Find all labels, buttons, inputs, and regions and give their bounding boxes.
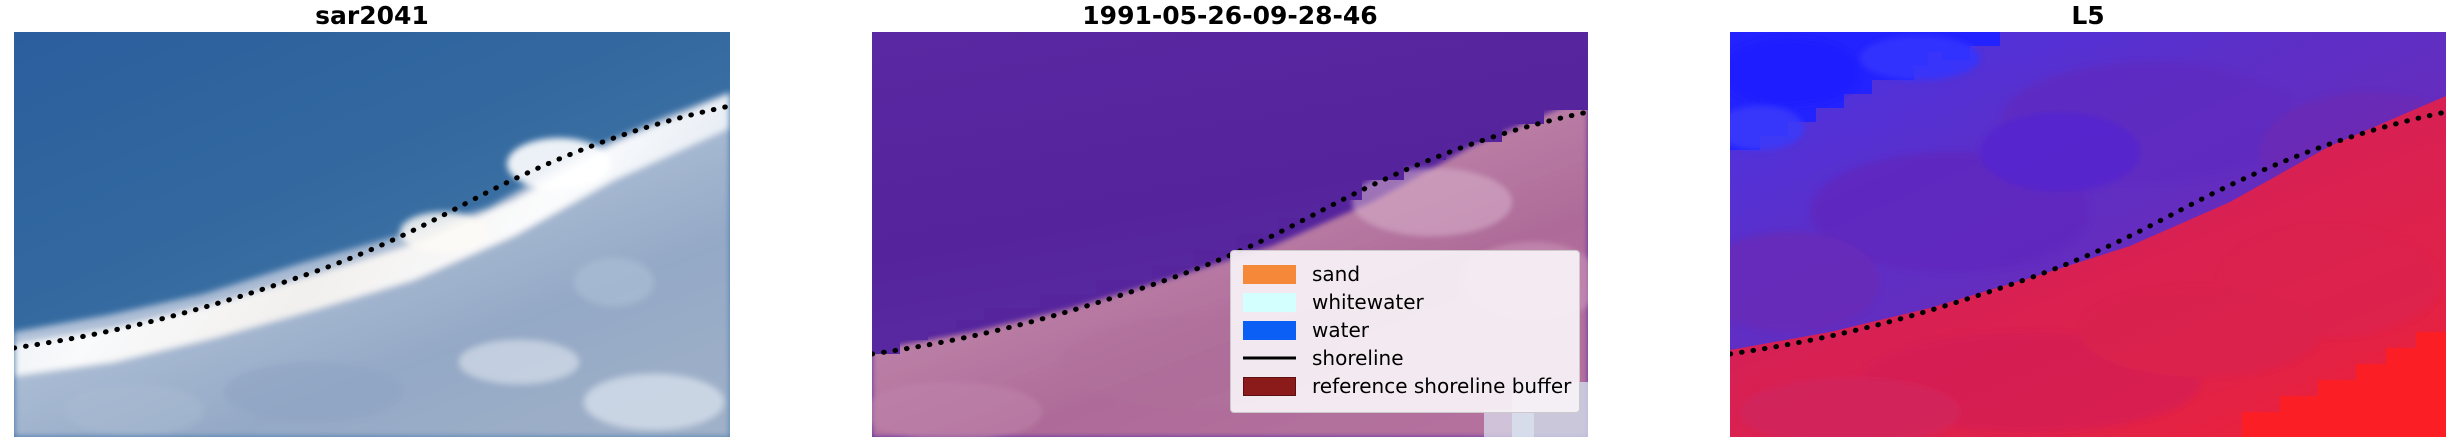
- axes-panel-3: [1730, 32, 2446, 437]
- legend-label-sand: sand: [1312, 264, 1360, 284]
- legend-item-shoreline: shoreline: [1243, 344, 1569, 372]
- panel-title-1: sar2041: [14, 2, 730, 30]
- reference-buffer-swatch: [1243, 377, 1296, 396]
- panel-title-2: 1991-05-26-09-28-46: [872, 2, 1588, 30]
- legend-item-whitewater: whitewater: [1243, 288, 1569, 316]
- sand-swatch: [1243, 265, 1296, 284]
- panel-1991-05-26-09-28-46: 1991-05-26-09-28-46: [872, 32, 1588, 437]
- legend-label-whitewater: whitewater: [1312, 292, 1424, 312]
- panel-1-image: [14, 32, 730, 437]
- panel-sar2041: sar2041: [14, 32, 730, 437]
- panel-title-3: L5: [1730, 2, 2446, 30]
- legend-item-water: water: [1243, 316, 1569, 344]
- shoreline-line-swatch: [1243, 349, 1296, 368]
- legend-item-sand: sand: [1243, 260, 1569, 288]
- water-swatch: [1243, 321, 1296, 340]
- legend-item-reference-buffer: reference shoreline buffer: [1243, 372, 1569, 400]
- axes-panel-1: [14, 32, 730, 437]
- panel-l5: L5: [1730, 32, 2446, 437]
- legend-label-water: water: [1312, 320, 1369, 340]
- legend-label-shoreline: shoreline: [1312, 348, 1404, 368]
- figure-canvas: sar2041: [0, 0, 2460, 446]
- panel-3-image: [1730, 32, 2446, 437]
- legend-box: sand whitewater water shoreline referenc…: [1230, 250, 1580, 413]
- whitewater-swatch: [1243, 293, 1296, 312]
- legend-label-reference-buffer: reference shoreline buffer: [1312, 376, 1571, 396]
